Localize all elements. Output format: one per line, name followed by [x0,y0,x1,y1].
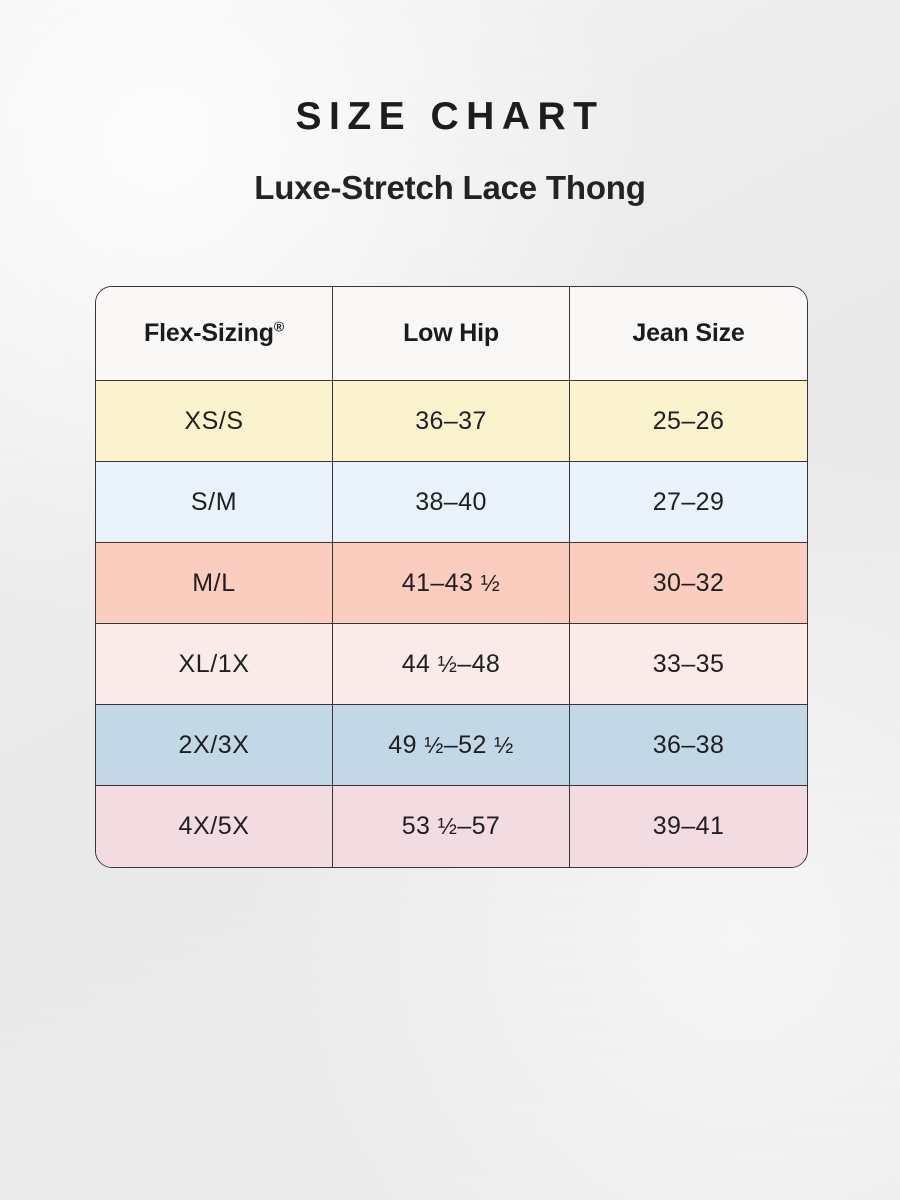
column-header-low-hip: Low Hip [333,287,570,381]
product-name: Luxe-Stretch Lace Thong [0,169,900,207]
cell-size: 2X/3X [96,705,333,786]
cell-low-hip: 38–40 [333,462,570,543]
cell-size: S/M [96,462,333,543]
cell-low-hip: 44 ½–48 [333,624,570,705]
table-row: 4X/5X 53 ½–57 39–41 [96,786,807,867]
column-header-flex-sizing-label: Flex-Sizing [144,319,274,347]
size-chart-page: SIZE CHART Luxe-Stretch Lace Thong Flex-… [0,0,900,1200]
size-table: Flex-Sizing® Low Hip Jean Size XS/S 36–3… [95,286,808,868]
cell-size: XS/S [96,381,333,462]
cell-jean-size: 39–41 [570,786,807,867]
page-title: SIZE CHART [0,96,900,139]
table-header-row: Flex-Sizing® Low Hip Jean Size [96,287,807,381]
column-header-flex-sizing: Flex-Sizing® [96,287,333,381]
cell-jean-size: 33–35 [570,624,807,705]
table-row: XS/S 36–37 25–26 [96,381,807,462]
cell-low-hip: 41–43 ½ [333,543,570,624]
cell-low-hip: 36–37 [333,381,570,462]
cell-low-hip: 49 ½–52 ½ [333,705,570,786]
table-row: XL/1X 44 ½–48 33–35 [96,624,807,705]
cell-jean-size: 25–26 [570,381,807,462]
cell-low-hip: 53 ½–57 [333,786,570,867]
table-row: S/M 38–40 27–29 [96,462,807,543]
registered-trademark-icon: ® [274,319,284,335]
cell-jean-size: 30–32 [570,543,807,624]
cell-jean-size: 27–29 [570,462,807,543]
cell-size: M/L [96,543,333,624]
cell-jean-size: 36–38 [570,705,807,786]
size-table-container: Flex-Sizing® Low Hip Jean Size XS/S 36–3… [95,286,806,868]
header-block: SIZE CHART Luxe-Stretch Lace Thong [0,0,900,207]
cell-size: 4X/5X [96,786,333,867]
table-row: M/L 41–43 ½ 30–32 [96,543,807,624]
column-header-jean-size: Jean Size [570,287,807,381]
table-row: 2X/3X 49 ½–52 ½ 36–38 [96,705,807,786]
cell-size: XL/1X [96,624,333,705]
table-body: XS/S 36–37 25–26 S/M 38–40 27–29 M/L 41–… [96,381,807,867]
table-header: Flex-Sizing® Low Hip Jean Size [96,287,807,381]
